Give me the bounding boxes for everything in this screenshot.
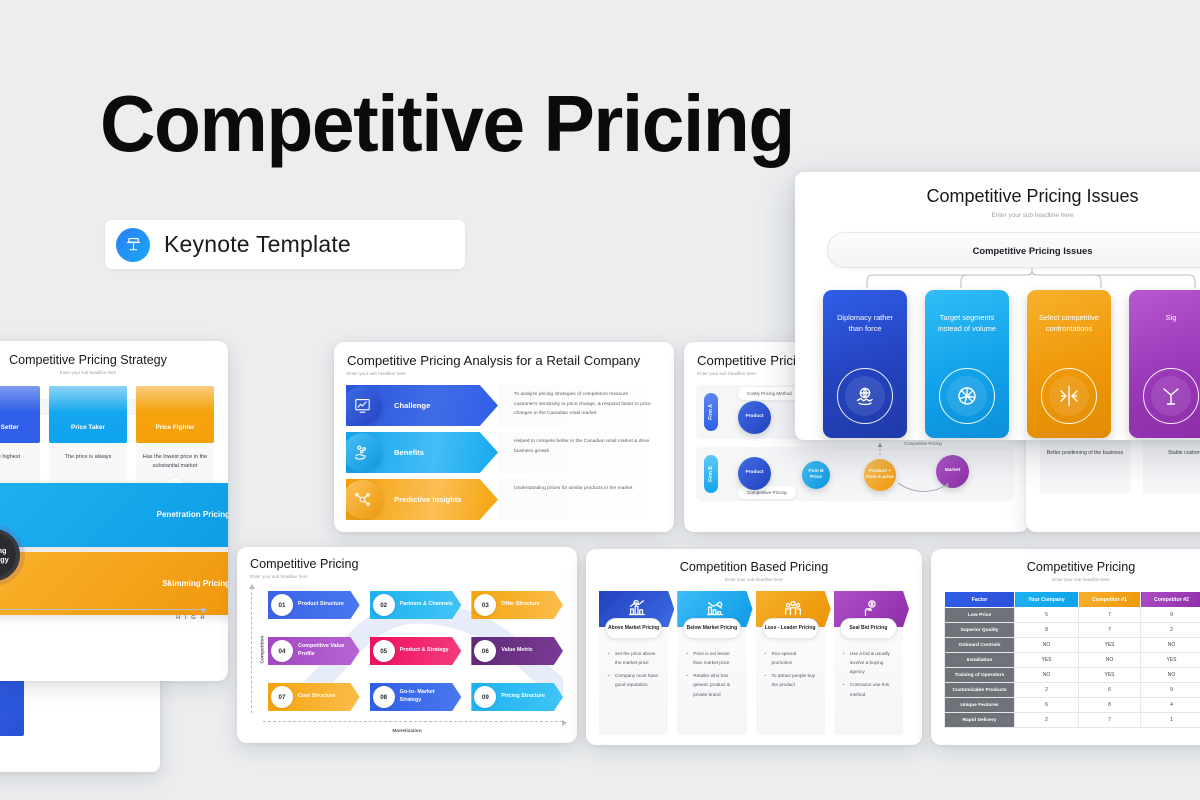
- positioning-label: Better positioning of the business: [1040, 436, 1130, 494]
- cbp-title: Below Market Pricing: [683, 618, 740, 639]
- cbp-bullet: Run special promotion: [765, 649, 817, 667]
- cell-value: NO: [1079, 653, 1141, 668]
- cell-value: 8: [1079, 698, 1141, 713]
- cbp-bullet: Retailer who has generic product & priva…: [686, 671, 738, 698]
- cell-value: 6: [1079, 683, 1141, 698]
- item-number: 04: [271, 640, 293, 662]
- node-firm-b-price[interactable]: Firm B Price: [802, 461, 830, 489]
- cell-value: NO: [1141, 668, 1200, 683]
- slide-subtitle: Enter your sub headline here: [347, 371, 674, 376]
- item-label: Partners & Channels: [400, 601, 459, 609]
- cell-value: NO: [1141, 638, 1200, 653]
- poster-canvas: Competitive Pricing Keynote Template Val…: [0, 0, 1200, 800]
- cbp-title: Loss - Leader Pricing: [762, 618, 819, 639]
- matrix-item-04[interactable]: 04 Competitive Value Profile: [268, 637, 360, 665]
- cbp-bullet: Price is set lesser than market price: [686, 649, 738, 667]
- axis-label-right: H I G H: [176, 615, 206, 621]
- segmented-pie-icon: [939, 368, 995, 424]
- item-label: Cost Structure: [298, 693, 341, 701]
- cell-value: 7: [1079, 608, 1141, 623]
- quadrant-skimming-pricing[interactable]: Skimming Pricing: [0, 552, 228, 616]
- signal-icon: [1143, 368, 1199, 424]
- cbp-bullet: Set the price above the market price: [608, 649, 660, 667]
- item-number: 07: [271, 686, 293, 708]
- matrix-row: 07 Cost Structure 08 Go-to- Market Strat…: [268, 683, 563, 711]
- item-label: Pricing Structure: [501, 693, 551, 701]
- monetization-axis: [263, 721, 563, 722]
- table-row: Training of Operators NO YES NO: [945, 668, 1200, 683]
- matrix-item-02[interactable]: 02 Partners & Channels: [370, 591, 462, 619]
- keynote-podium-icon: [116, 228, 150, 262]
- cbp-bullet: To attract people buy the product: [765, 671, 817, 689]
- firm-b-pill: Firm B: [704, 455, 718, 493]
- issue-card-diplomacy[interactable]: Diplomacy rather than force: [823, 290, 907, 438]
- issue-card-signal[interactable]: Sig: [1129, 290, 1200, 438]
- issue-card-select-confrontations[interactable]: Select competitive confrontations: [1027, 290, 1111, 438]
- chart-analytics-icon: [343, 386, 382, 425]
- slide-subtitle: Enter your sub headline here: [586, 577, 922, 582]
- node-product-a[interactable]: Product: [738, 401, 771, 434]
- cell-value: 1: [1141, 713, 1200, 728]
- item-number: 08: [373, 686, 395, 708]
- issue-cards: Diplomacy rather than force Target segme…: [823, 290, 1200, 438]
- slide-competitive-pricing-matrix[interactable]: Competitive Pricing Enter your sub headl…: [237, 547, 577, 743]
- analysis-row[interactable]: Predictive Insights Understanding prices…: [346, 479, 662, 520]
- firm-b-label: Firm B: [708, 466, 714, 482]
- item-number: 06: [474, 640, 496, 662]
- cbp-bullet: Contractor use this method: [843, 680, 895, 698]
- item-number: 02: [373, 594, 395, 616]
- item-number: 05: [373, 640, 395, 662]
- page-title: Competitive Pricing: [100, 82, 794, 166]
- matrix-row: 01 Product Structure 02 Partners & Chann…: [268, 591, 563, 619]
- handshake-globe-icon: [837, 368, 893, 424]
- slide-subtitle: Enter your sub headline here: [0, 370, 228, 375]
- hub-label: Pricing Strategy: [0, 546, 16, 565]
- item-number: 09: [474, 686, 496, 708]
- table-row: Customizable Products 2 6 9: [945, 683, 1200, 698]
- cell-value: 5: [1015, 608, 1079, 623]
- column-body-text: Has the lowest price in the substantial …: [143, 454, 208, 469]
- keynote-template-badge[interactable]: Keynote Template: [105, 220, 465, 269]
- table-row: Low Price 5 7 9: [945, 608, 1200, 623]
- column-header-competitor-2[interactable]: Competitor #2: [1141, 592, 1200, 608]
- item-label: Go-to- Market Strategy: [400, 689, 462, 705]
- cbp-body: Run special promotion To attract people …: [756, 627, 825, 735]
- table-row: Rapid Delivery 2 7 1: [945, 713, 1200, 728]
- matrix-item-09[interactable]: 09 Pricing Structure: [471, 683, 563, 711]
- matrix-row: 04 Competitive Value Profile 05 Product …: [268, 637, 563, 665]
- quality-axis: Quality H I G H: [0, 609, 206, 621]
- cbp-bullet: Use a bid & usually involve a buying age…: [843, 649, 895, 676]
- cell-factor: Training of Operators: [945, 668, 1015, 683]
- node-combined-price[interactable]: Product + Firm A price: [864, 459, 896, 491]
- column-header-factor[interactable]: Factor: [945, 592, 1015, 608]
- slide-competition-based-pricing[interactable]: Competition Based Pricing Enter your sub…: [586, 549, 922, 745]
- table-row: Superior Quality 8 7 2: [945, 623, 1200, 638]
- cbp-body: Use a bid & usually involve a buying age…: [834, 627, 903, 735]
- item-label: Value Metric: [501, 647, 538, 655]
- quadrant-penetration-pricing[interactable]: Penetration Pricing: [0, 483, 228, 547]
- analysis-row[interactable]: Challenge To analyze pricing strategies …: [346, 385, 662, 426]
- cbp-column[interactable]: Below Market Pricing Price is set lesser…: [677, 591, 752, 735]
- featured-slide-competitive-pricing-issues[interactable]: Competitive Pricing Issues Enter your su…: [795, 172, 1200, 440]
- connector-braces: [827, 268, 1200, 290]
- cell-value: 4: [1141, 698, 1200, 713]
- cbp-column[interactable]: Loss - Leader Pricing Run special promot…: [756, 591, 831, 735]
- item-label: Competitive Value Profile: [298, 643, 360, 659]
- tag-costly-pricing-method: Costly Pricing Method: [738, 387, 801, 400]
- slide-subtitle: Enter your sub headline here: [931, 577, 1200, 582]
- cell-value: YES: [1079, 668, 1141, 683]
- cell-factor: Unique Features: [945, 698, 1015, 713]
- quadrant-label: Skimming Pricing: [162, 579, 228, 588]
- row-text: Understanding prices for similar product…: [498, 479, 662, 520]
- matrix-item-06[interactable]: 06 Value Metric: [471, 637, 563, 665]
- item-label: Product Structure: [298, 601, 350, 609]
- table-header-row: Factor Your Company Competitor #1 Compet…: [945, 592, 1200, 608]
- cell-value: 8: [1015, 623, 1079, 638]
- column-cap-label: Price Fighter: [136, 386, 214, 443]
- x-axis-label: Monetization: [251, 729, 563, 734]
- cbp-body: Set the price above the market price Com…: [599, 627, 668, 735]
- cell-factor: Rapid Delivery: [945, 713, 1015, 728]
- table-row: Unique Features 6 8 4: [945, 698, 1200, 713]
- cell-value: YES: [1141, 653, 1200, 668]
- pricing-strategy-quadrant: Penetration Pricing Skimming Pricing: [0, 483, 214, 633]
- cell-value: 2: [1015, 713, 1079, 728]
- slide-title: Competitive Pricing Analysis for a Retai…: [347, 353, 674, 368]
- cbp-column[interactable]: Seal Bid Pricing Use a bid & usually inv…: [834, 591, 909, 735]
- pricing-column[interactable]: Price Setter Has the highest: [0, 386, 40, 494]
- issue-card-label: Sig: [1129, 312, 1200, 323]
- firm-a-label: Firm A: [708, 404, 714, 420]
- node-market[interactable]: Market: [936, 455, 969, 488]
- table-row: Installation YES NO YES: [945, 653, 1200, 668]
- cell-value: NO: [1015, 638, 1079, 653]
- cell-value: 9: [1141, 683, 1200, 698]
- column-cap-label: Price Taker: [49, 386, 127, 443]
- column-header-your-company[interactable]: Your Company: [1015, 592, 1079, 608]
- slide-retail-pricing-analysis[interactable]: Competitive Pricing Analysis for a Retai…: [334, 342, 674, 532]
- item-number: 01: [271, 594, 293, 616]
- slide-title: Competition Based Pricing: [586, 560, 922, 574]
- row-text: To analyze pricing strategies of competi…: [498, 385, 662, 426]
- cell-value: 2: [1141, 623, 1200, 638]
- cell-factor: Low Price: [945, 608, 1015, 623]
- featured-slide-title: Competitive Pricing Issues: [795, 186, 1200, 207]
- row-label: Predictive Insights: [394, 495, 462, 504]
- cbp-title: Above Market Pricing: [605, 618, 662, 639]
- quadrant-right-blocks: Penetration Pricing Skimming Pricing: [0, 483, 228, 615]
- pricing-column[interactable]: Price Taker The price is always: [49, 386, 127, 494]
- table-row: Onboard Controls NO YES NO: [945, 638, 1200, 653]
- cell-factor: Installation: [945, 653, 1015, 668]
- cell-factor: Customizable Products: [945, 683, 1015, 698]
- pricing-column[interactable]: Price Fighter Has the lowest price in th…: [136, 386, 214, 494]
- edge-label-competitive-pricing: Competitive Pricing: [904, 441, 942, 447]
- cell-value: 9: [1141, 608, 1200, 623]
- cell-value: 7: [1079, 713, 1141, 728]
- analysis-row[interactable]: Benefits Helped to compete better in the…: [346, 432, 662, 473]
- slide-competitive-pricing-table[interactable]: Competitive Pricing Enter your sub headl…: [931, 549, 1200, 745]
- network-gear-icon: [343, 480, 382, 519]
- cell-value: 6: [1015, 698, 1079, 713]
- cell-value: YES: [1015, 653, 1079, 668]
- matrix-item-08[interactable]: 08 Go-to- Market Strategy: [370, 683, 462, 711]
- row-label: Challenge: [394, 401, 430, 410]
- slide-title: Competitive Pricing: [931, 560, 1200, 574]
- issue-card-label: Target segments instead of volume: [925, 312, 1009, 334]
- row-text: Helped to compete better in the Canadian…: [498, 432, 662, 473]
- column-header-competitor-1[interactable]: Competitor #1: [1079, 592, 1141, 608]
- featured-slide-subtitle: Enter your sub headline here: [795, 212, 1200, 219]
- root-node-competitive-pricing-issues[interactable]: Competitive Pricing Issues: [827, 232, 1200, 268]
- slide-subtitle: Enter your sub headline here: [250, 574, 577, 579]
- cell-value: YES: [1079, 638, 1141, 653]
- row-label: Benefits: [394, 448, 424, 457]
- slide-title: Competitive Pricing: [250, 557, 577, 571]
- comparison-table: Factor Your Company Competitor #1 Compet…: [944, 591, 1200, 728]
- node-product-b[interactable]: Product: [738, 457, 771, 490]
- matrix-item-01[interactable]: 01 Product Structure: [268, 591, 360, 619]
- item-number: 03: [474, 594, 496, 616]
- positioning-label: Stable customers: [1143, 436, 1200, 494]
- cell-value: NO: [1015, 668, 1079, 683]
- column-cap-label: Price Setter: [0, 386, 40, 443]
- cbp-title: Seal Bid Pricing: [840, 618, 897, 639]
- matrix-item-03[interactable]: 03 Offer Structure: [471, 591, 563, 619]
- slide-competitive-pricing-strategy[interactable]: Competitive Pricing Strategy Enter your …: [0, 341, 228, 681]
- market-pricing-strategy-group: Market Pricing Strategy Price Setter Has…: [0, 386, 214, 494]
- cell-value: 2: [1015, 683, 1079, 698]
- cell-factor: Superior Quality: [945, 623, 1015, 638]
- item-label: Offer Structure: [501, 601, 545, 609]
- hand-coins-icon: [343, 433, 382, 472]
- cbp-body: Price is set lesser than market price Re…: [677, 627, 746, 735]
- matrix-item-07[interactable]: 07 Cost Structure: [268, 683, 360, 711]
- firm-a-pill: Firm A: [704, 393, 718, 431]
- quadrant-label: Penetration Pricing: [157, 510, 228, 519]
- issue-card-target-segments[interactable]: Target segments instead of volume: [925, 290, 1009, 438]
- y-axis-label: Competition: [260, 636, 265, 664]
- arrows-converge-icon: [1041, 368, 1097, 424]
- cbp-bullet: Company must have good reputation: [608, 671, 660, 689]
- cbp-column[interactable]: Above Market Pricing Set the price above…: [599, 591, 674, 735]
- issue-card-label: Diplomacy rather than force: [823, 312, 907, 334]
- item-label: Product & Strategy: [400, 647, 455, 655]
- matrix-item-05[interactable]: 05 Product & Strategy: [370, 637, 462, 665]
- badge-label: Keynote Template: [164, 231, 351, 258]
- slide-title: Competitive Pricing Strategy: [0, 353, 228, 367]
- cell-factor: Onboard Controls: [945, 638, 1015, 653]
- cell-value: 7: [1079, 623, 1141, 638]
- issue-card-label: Select competitive confrontations: [1027, 312, 1111, 334]
